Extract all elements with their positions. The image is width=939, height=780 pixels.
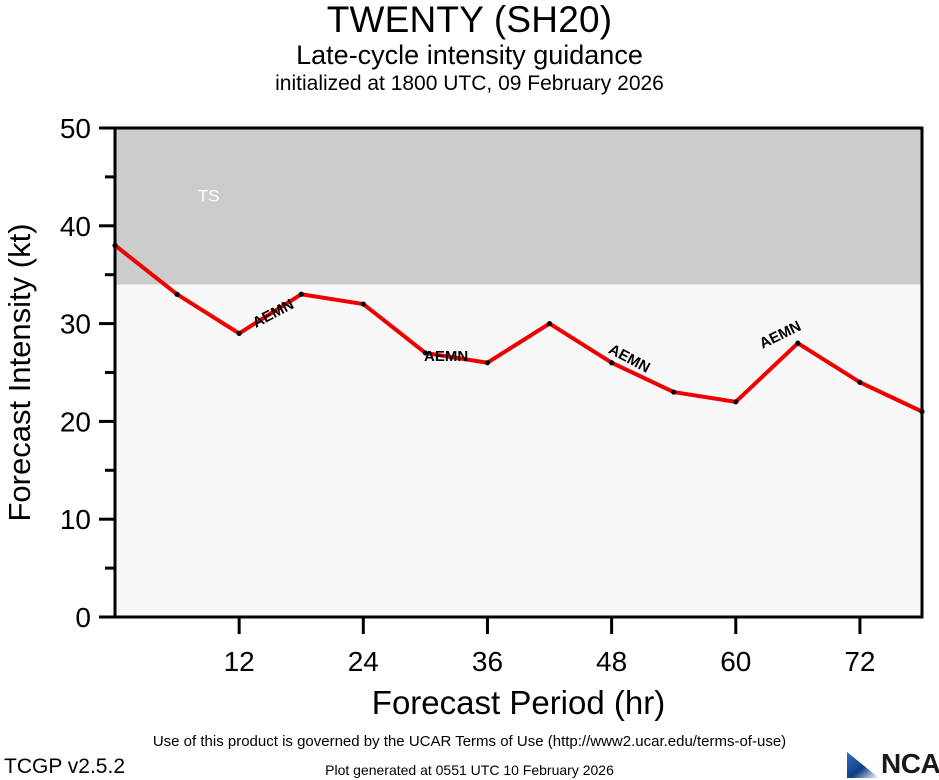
- intensity-line-chart: TS01020304050122436486072Forecast Period…: [0, 0, 939, 780]
- x-tick-label-48: 48: [596, 646, 627, 677]
- data-point-aemn-6: [174, 292, 179, 297]
- y-tick-label-0: 0: [75, 602, 91, 633]
- x-tick-label-36: 36: [472, 646, 503, 677]
- x-tick-label-12: 12: [224, 646, 255, 677]
- data-point-aemn-48: [609, 360, 614, 365]
- x-axis-title: Forecast Period (hr): [372, 684, 665, 721]
- y-tick-label-30: 30: [60, 309, 91, 340]
- y-tick-label-20: 20: [60, 406, 91, 437]
- data-point-aemn-42: [547, 321, 552, 326]
- generated-at-text: Plot generated at 0551 UTC 10 February 2…: [0, 762, 939, 778]
- y-axis-title: Forecast Intensity (kt): [2, 223, 37, 521]
- data-point-aemn-0: [112, 243, 117, 248]
- chart-plot-area: TS01020304050122436486072Forecast Period…: [0, 0, 939, 780]
- band-label-ts: TS: [198, 186, 220, 205]
- data-point-aemn-54: [671, 389, 676, 394]
- data-point-aemn-36: [485, 360, 490, 365]
- data-point-aemn-72: [857, 380, 862, 385]
- data-point-aemn-18: [299, 292, 304, 297]
- y-tick-label-50: 50: [60, 113, 91, 144]
- terms-of-use-text: Use of this product is governed by the U…: [0, 733, 939, 750]
- y-tick-label-40: 40: [60, 211, 91, 242]
- intensity-band-ts: [115, 128, 922, 284]
- data-point-aemn-66: [795, 341, 800, 346]
- data-point-aemn-60: [733, 399, 738, 404]
- x-tick-label-60: 60: [720, 646, 751, 677]
- data-point-aemn-24: [361, 301, 366, 306]
- series-inline-label-aemn-1: AEMN: [424, 348, 468, 365]
- x-tick-label-24: 24: [348, 646, 379, 677]
- data-point-aemn-12: [237, 331, 242, 336]
- data-point-aemn-78: [919, 409, 924, 414]
- x-tick-label-72: 72: [844, 646, 875, 677]
- y-tick-label-10: 10: [60, 504, 91, 535]
- ncar-logo-text: NCAR: [881, 748, 939, 780]
